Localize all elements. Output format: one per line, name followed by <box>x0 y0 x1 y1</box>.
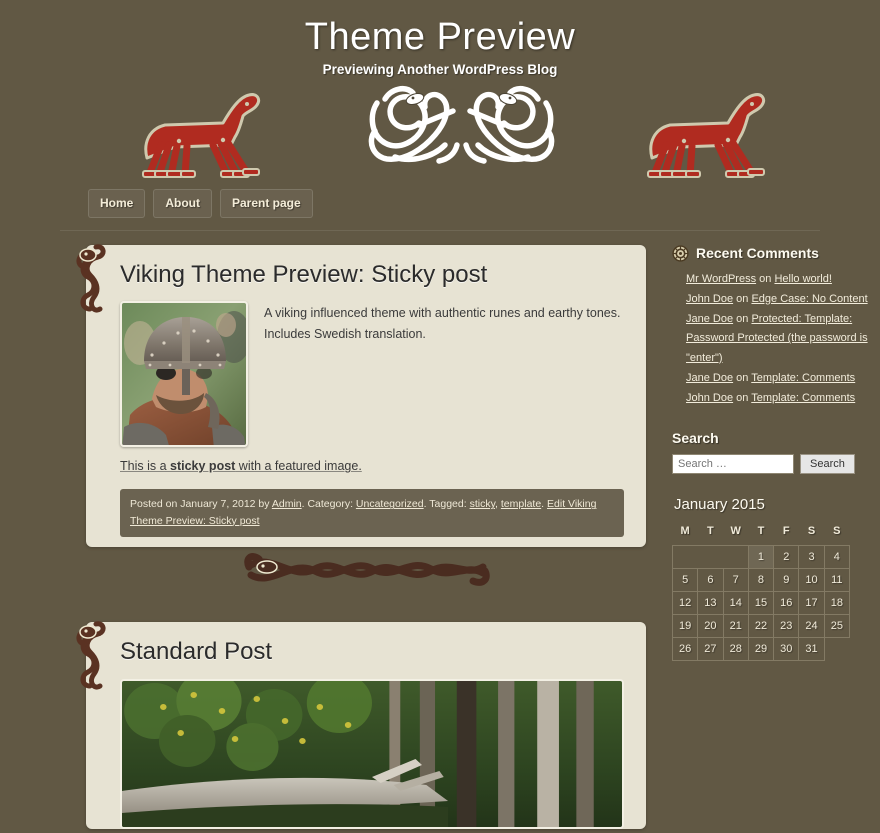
site-description: Previewing Another WordPress Blog <box>0 62 880 77</box>
calendar-weekday-0: M <box>673 523 698 546</box>
comment-post-link[interactable]: Edge Case: No Content <box>751 293 867 305</box>
serpent-knot-icon <box>462 83 558 173</box>
meta-tag-sticky[interactable]: sticky <box>470 498 495 510</box>
calendar-day-21[interactable]: 21 <box>723 615 748 638</box>
widget-search: Search Search <box>672 430 872 474</box>
calendar-weekday-6: S <box>824 523 849 546</box>
calendar-day-16[interactable]: 16 <box>774 592 799 615</box>
calendar-week-row: 19202122232425 <box>673 615 850 638</box>
widget-calendar: January 2015 MTWTFSS 1234567891011121314… <box>672 496 872 661</box>
calendar-day-7[interactable]: 7 <box>723 569 748 592</box>
post-title[interactable]: Viking Theme Preview: Sticky post <box>120 261 624 290</box>
list-item: Jane Doe on Template: Comments <box>686 369 872 388</box>
search-input[interactable] <box>672 454 794 474</box>
featured-image-viking[interactable] <box>120 301 248 447</box>
calendar-week-row: 12131415161718 <box>673 592 850 615</box>
calendar-weekday-4: F <box>774 523 799 546</box>
page-body: Viking Theme Preview: Sticky post <box>0 231 880 833</box>
serpent-ornament-icon <box>72 239 112 317</box>
post-standard: Standard Post <box>86 622 646 829</box>
norse-horse-icon <box>135 83 285 178</box>
comment-on-label: on <box>733 293 751 305</box>
comment-on-label: on <box>733 313 751 325</box>
nav-list: Home About Parent page <box>88 189 880 218</box>
norse-horse-icon <box>640 83 790 178</box>
calendar-day-15[interactable]: 15 <box>748 592 773 615</box>
calendar-day-6[interactable]: 6 <box>698 569 723 592</box>
calendar-empty-cell <box>824 638 849 661</box>
calendar-day-13[interactable]: 13 <box>698 592 723 615</box>
calendar-week-row: 262728293031 <box>673 638 850 661</box>
calendar-day-8[interactable]: 8 <box>748 569 773 592</box>
calendar-day-28[interactable]: 28 <box>723 638 748 661</box>
calendar-day-17[interactable]: 17 <box>799 592 824 615</box>
widget-title-recent-comments: Recent Comments <box>672 245 872 262</box>
sticky-note: This is a sticky post with a featured im… <box>120 459 624 473</box>
calendar-day-31[interactable]: 31 <box>799 638 824 661</box>
site-header: Theme Preview Previewing Another WordPre… <box>0 0 880 183</box>
calendar-day-23[interactable]: 23 <box>774 615 799 638</box>
search-button[interactable]: Search <box>800 454 855 474</box>
calendar-day-10[interactable]: 10 <box>799 569 824 592</box>
widget-title-search: Search <box>672 430 872 446</box>
comment-author-link[interactable]: Mr WordPress <box>686 273 756 285</box>
calendar-day-22[interactable]: 22 <box>748 615 773 638</box>
post-title[interactable]: Standard Post <box>120 638 624 667</box>
calendar-day-12[interactable]: 12 <box>673 592 698 615</box>
calendar-weekday-3: T <box>748 523 773 546</box>
calendar-day-14[interactable]: 14 <box>723 592 748 615</box>
serpent-knot-border-icon <box>241 547 491 597</box>
meta-tagged-label: . Tagged: <box>424 498 470 510</box>
comment-author-link[interactable]: Jane Doe <box>686 372 733 384</box>
calendar-day-27[interactable]: 27 <box>698 638 723 661</box>
header-ornament-band <box>0 83 880 183</box>
meta-category-label: . Category: <box>302 498 356 510</box>
calendar-pad-cell <box>673 546 749 569</box>
knot-ornament-icon <box>672 245 689 262</box>
post-meta: Posted on January 7, 2012 by Admin. Cate… <box>120 489 624 537</box>
calendar-day-26[interactable]: 26 <box>673 638 698 661</box>
comment-on-label: on <box>733 372 751 384</box>
calendar-day-9[interactable]: 9 <box>774 569 799 592</box>
calendar-day-30[interactable]: 30 <box>774 638 799 661</box>
calendar-day-20[interactable]: 20 <box>698 615 723 638</box>
sticky-prefix: This is a <box>120 459 170 473</box>
site-title[interactable]: Theme Preview <box>0 16 880 60</box>
comment-author-link[interactable]: Jane Doe <box>686 313 733 325</box>
post-sticky: Viking Theme Preview: Sticky post <box>86 245 646 547</box>
meta-tag-template[interactable]: template <box>501 498 541 510</box>
calendar-day-2[interactable]: 2 <box>774 546 799 569</box>
widget-recent-comments: Recent Comments Mr WordPress on Hello wo… <box>672 245 872 409</box>
sticky-bold: sticky post <box>170 459 235 473</box>
list-item: Mr WordPress on Hello world! <box>686 270 872 289</box>
calendar-day-1[interactable]: 1 <box>748 546 773 569</box>
meta-posted-on: Posted on January 7, 2012 by <box>130 498 272 510</box>
calendar-table: MTWTFSS 12345678910111213141516171819202… <box>672 523 850 661</box>
list-item: John Doe on Template: Comments <box>686 389 872 408</box>
calendar-weekday-5: S <box>799 523 824 546</box>
calendar-day-29[interactable]: 29 <box>748 638 773 661</box>
serpent-knot-icon <box>365 83 461 173</box>
calendar-day-4[interactable]: 4 <box>824 546 849 569</box>
calendar-weekday-1: T <box>698 523 723 546</box>
recent-comments-list: Mr WordPress on Hello world! John Doe on… <box>672 270 872 409</box>
meta-category-link[interactable]: Uncategorized <box>356 498 424 510</box>
comment-on-label: on <box>733 392 751 404</box>
calendar-week-row: 1234 <box>673 546 850 569</box>
sticky-suffix: with a featured image. <box>235 459 361 473</box>
meta-author-link[interactable]: Admin <box>272 498 302 510</box>
primary-navigation: Home About Parent page <box>0 183 880 231</box>
post-body: A viking influenced theme with authentic… <box>120 301 624 447</box>
content-column: Viking Theme Preview: Sticky post <box>86 245 646 833</box>
calendar-day-5[interactable]: 5 <box>673 569 698 592</box>
comment-author-link[interactable]: John Doe <box>686 293 733 305</box>
knotwork-divider <box>86 547 646 602</box>
comment-on-label: on <box>756 273 774 285</box>
nav-item-home[interactable]: Home <box>88 189 145 218</box>
nav-item-parent-page[interactable]: Parent page <box>220 189 313 218</box>
post-excerpt: A viking influenced theme with authentic… <box>264 301 624 447</box>
calendar-weekday-row: MTWTFSS <box>673 523 850 546</box>
sidebar: Recent Comments Mr WordPress on Hello wo… <box>672 245 872 833</box>
comment-post-link[interactable]: Template: Comments <box>751 372 855 384</box>
calendar-day-25[interactable]: 25 <box>824 615 849 638</box>
list-item: Jane Doe on Protected: Template: Passwor… <box>686 310 872 368</box>
widget-title-text: Recent Comments <box>696 245 819 261</box>
search-form: Search <box>672 454 872 474</box>
comment-post-link[interactable]: Hello world! <box>774 273 831 285</box>
calendar-body: 1234567891011121314151617181920212223242… <box>673 546 850 661</box>
calendar-day-11[interactable]: 11 <box>824 569 849 592</box>
calendar-day-3[interactable]: 3 <box>799 546 824 569</box>
calendar-caption: January 2015 <box>674 496 872 513</box>
nav-item-about[interactable]: About <box>153 189 212 218</box>
comment-author-link[interactable]: John Doe <box>686 392 733 404</box>
featured-image-forest[interactable] <box>120 679 624 829</box>
list-item: John Doe on Edge Case: No Content <box>686 290 872 309</box>
calendar-day-18[interactable]: 18 <box>824 592 849 615</box>
calendar-day-24[interactable]: 24 <box>799 615 824 638</box>
calendar-week-row: 567891011 <box>673 569 850 592</box>
calendar-day-19[interactable]: 19 <box>673 615 698 638</box>
serpent-ornament-icon <box>72 616 112 694</box>
comment-post-link[interactable]: Template: Comments <box>751 392 855 404</box>
calendar-weekday-2: W <box>723 523 748 546</box>
